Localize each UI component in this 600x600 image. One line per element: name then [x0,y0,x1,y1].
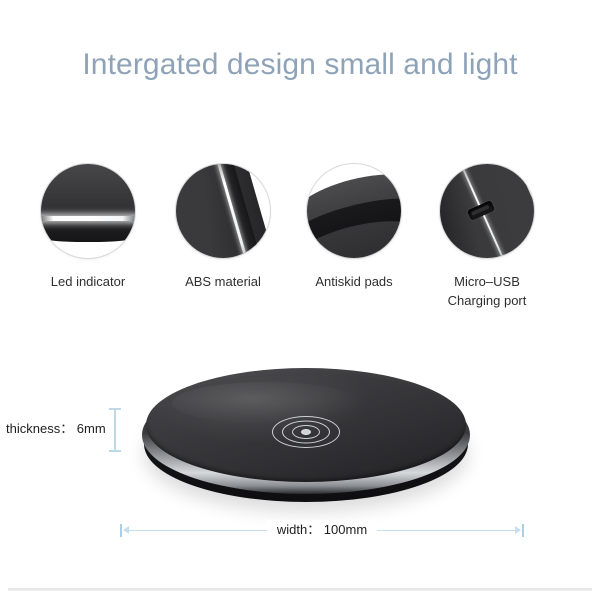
width-line-right [368,530,520,531]
wireless-charging-icon [268,414,344,450]
ripple-center-dot [301,429,311,435]
led-strip-icon [41,216,135,221]
feature-label-abs-material: ABS material [157,272,289,291]
feature-abs-material[interactable]: ABS material [157,164,289,291]
feature-antiskid-pads[interactable]: Antiskid pads [288,164,420,291]
width-line-left [124,530,276,531]
width-cap-right [522,524,524,537]
feature-micro-usb[interactable]: Micro–USB Charging port [421,164,553,310]
feature-label-antiskid-pads: Antiskid pads [288,272,420,291]
pad-side-shape [41,219,135,242]
micro-usb-image [440,164,534,258]
abs-material-closeup-circle [176,164,270,258]
feature-label-line1: Micro–USB [421,272,553,291]
abs-material-image [176,164,270,258]
feature-led-indicator[interactable]: Led indicator [22,164,154,291]
width-dimension: width： 100mm [118,520,526,540]
bottom-divider [8,588,592,591]
product-image-wireless-charging-pad [140,360,472,508]
thickness-dimension-label: thickness： 6mm [6,418,106,437]
feature-label-led-indicator: Led indicator [22,272,154,291]
led-indicator-image [41,164,135,258]
thickness-dimension-bar [114,408,116,452]
micro-usb-closeup-circle [440,164,534,258]
width-dimension-label: width： 100mm [267,520,377,540]
feature-label-micro-usb: Micro–USB Charging port [421,272,553,310]
page-title: Intergated design small and light [0,48,600,82]
antiskid-pads-image [307,164,401,258]
antiskid-pads-closeup-circle [307,164,401,258]
infographic-canvas: Intergated design small and light Led in… [0,0,600,600]
feature-callout-row: Led indicator ABS material [0,164,600,324]
feature-label-line2: Charging port [421,291,553,310]
led-indicator-closeup-circle [41,164,135,258]
width-cap-left [120,524,122,537]
width-arrow-right [515,526,521,534]
